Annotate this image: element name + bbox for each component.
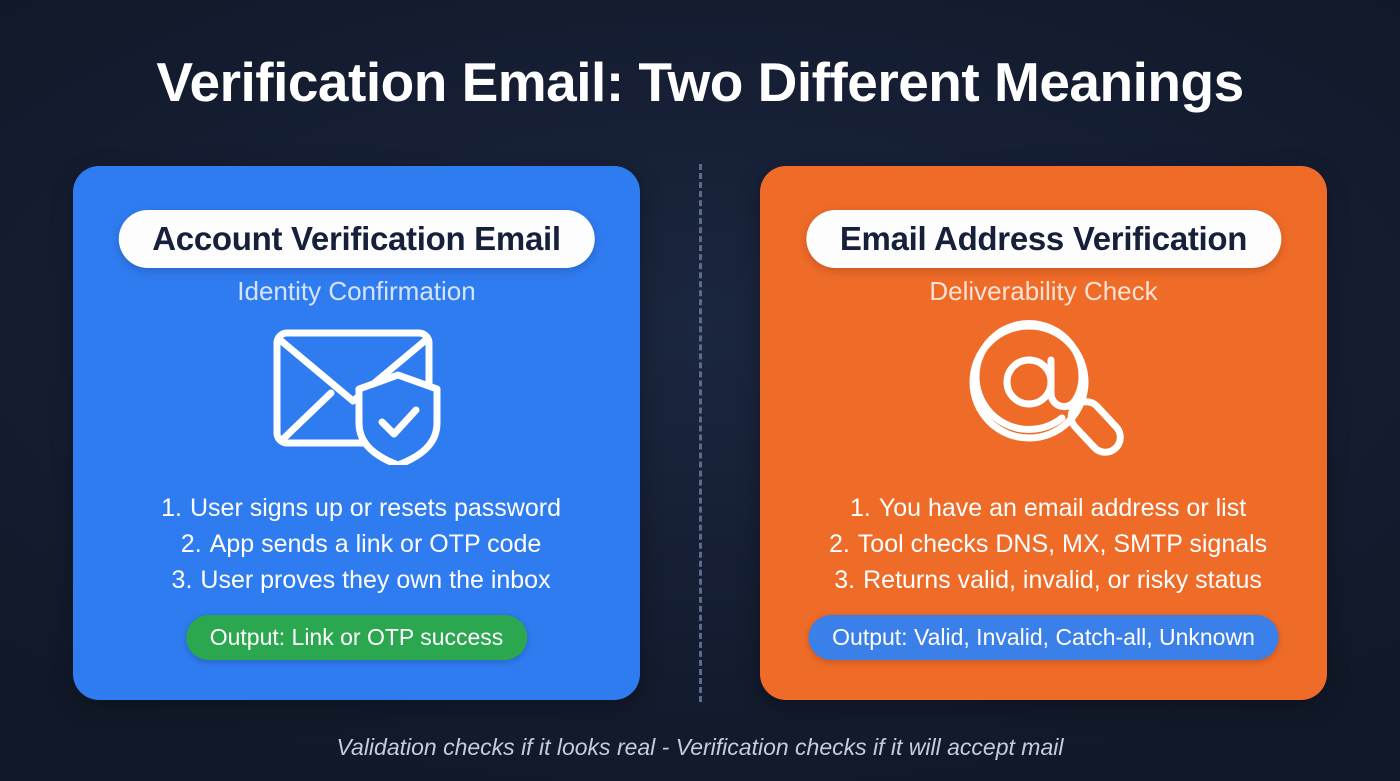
- infographic-canvas: Verification Email: Two Different Meanin…: [0, 0, 1400, 781]
- list-item: 1. User signs up or resets password: [152, 491, 561, 525]
- step-text: User proves they own the inbox: [200, 563, 550, 597]
- step-number: 1.: [152, 491, 182, 525]
- steps-list-right: 1. You have an email address or list 2. …: [760, 491, 1327, 597]
- step-number: 3.: [825, 563, 855, 597]
- step-number: 2.: [172, 527, 202, 561]
- card-heading-pill-right: Email Address Verification: [806, 210, 1281, 268]
- status-badge-right: Output: Valid, Invalid, Catch-all, Unkno…: [808, 615, 1279, 660]
- card-heading-pill-left: Account Verification Email: [118, 210, 594, 268]
- step-number: 3.: [162, 563, 192, 597]
- list-item: 3. User proves they own the inbox: [162, 563, 550, 597]
- steps-list-left: 1. User signs up or resets password 2. A…: [73, 491, 640, 597]
- list-item: 2. App sends a link or OTP code: [172, 527, 542, 561]
- status-badge-label: Output: Link or OTP success: [210, 624, 504, 650]
- vertical-dashed-divider: [699, 164, 702, 702]
- card-heading-right: Email Address Verification: [840, 220, 1247, 257]
- card-subtitle-left: Identity Confirmation: [73, 276, 640, 307]
- page-title: Verification Email: Two Different Meanin…: [0, 50, 1400, 114]
- step-text: App sends a link or OTP code: [210, 527, 542, 561]
- envelope-shield-check-icon: [73, 321, 640, 466]
- list-item: 1. You have an email address or list: [841, 491, 1246, 525]
- list-item: 3. Returns valid, invalid, or risky stat…: [825, 563, 1262, 597]
- card-heading-left: Account Verification Email: [152, 220, 560, 257]
- list-item: 2. Tool checks DNS, MX, SMTP signals: [820, 527, 1267, 561]
- step-text: User signs up or resets password: [190, 491, 561, 525]
- footer-note: Validation checks if it looks real - Ver…: [0, 734, 1400, 761]
- status-badge-label: Output: Valid, Invalid, Catch-all, Unkno…: [832, 624, 1255, 650]
- card-email-address-verification: Email Address Verification Deliverabilit…: [760, 166, 1327, 700]
- step-text: Returns valid, invalid, or risky status: [863, 563, 1262, 597]
- card-subtitle-right: Deliverability Check: [760, 276, 1327, 307]
- step-number: 2.: [820, 527, 850, 561]
- step-text: Tool checks DNS, MX, SMTP signals: [858, 527, 1267, 561]
- at-magnifier-icon: [760, 321, 1327, 466]
- step-text: You have an email address or list: [879, 491, 1246, 525]
- status-badge-left: Output: Link or OTP success: [186, 615, 528, 660]
- step-number: 1.: [841, 491, 871, 525]
- card-account-verification-email: Account Verification Email Identity Conf…: [73, 166, 640, 700]
